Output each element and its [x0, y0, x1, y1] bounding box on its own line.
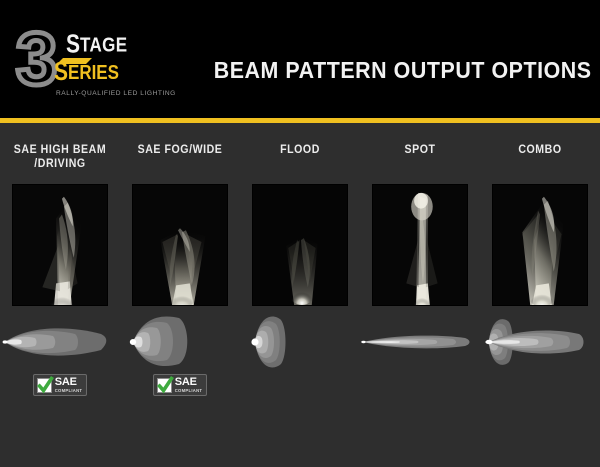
beam-photo-spot [372, 184, 468, 306]
beam-diagram-sae-fog-wide [121, 312, 239, 372]
beam-diagram-artwork [481, 312, 599, 372]
beam-diagram-artwork [121, 312, 239, 372]
green-checkmark-icon [157, 378, 172, 393]
beam-photo-sae-fog-wide [132, 184, 228, 306]
beam-diagram-artwork [241, 312, 359, 372]
beam-photo-combo [492, 184, 588, 306]
column-label: SAE FOG/WIDE [126, 129, 235, 177]
header-divider [0, 118, 600, 123]
status-badge-sae-compliant: SAE COMPLIANT [33, 374, 88, 396]
beam-photo-sae-high-beam-driving [12, 184, 108, 306]
logo-word-series-rest: ERIES [68, 61, 119, 84]
beam-diagram-artwork [361, 312, 479, 372]
logo-word-series: S [54, 57, 68, 85]
beam-diagram-spot [361, 312, 479, 372]
column-label: FLOOD [246, 129, 355, 177]
page-title: BEAM PATTERN OUTPUT OPTIONS [214, 57, 579, 84]
pattern-columns: SAE HIGH BEAM /DRIVING [0, 129, 600, 439]
beam-diagram-sae-high-beam-driving [1, 312, 119, 372]
logo-numeral-3: 3 [16, 17, 57, 100]
logo-artwork: 3 S TAGE S ERIES RALLY-QUALIFIED LED LIG… [14, 14, 194, 104]
badge-text: SAE COMPLIANT [175, 377, 203, 393]
badge-text: SAE COMPLIANT [55, 377, 83, 393]
beam-photo-flood [252, 184, 348, 306]
header-bar: 3 S TAGE S ERIES RALLY-QUALIFIED LED LIG… [0, 0, 600, 118]
green-checkmark-icon [37, 378, 52, 393]
badge-sub-label: COMPLIANT [175, 389, 203, 393]
badge-main-label: SAE [55, 377, 83, 388]
column-label: COMBO [486, 129, 595, 177]
logo-word-stage: S [66, 29, 80, 57]
beam-photo-artwork [253, 185, 347, 305]
logo-word-stage-rest: TAGE [80, 34, 128, 57]
beam-diagram-artwork [1, 312, 119, 372]
beam-photo-artwork [493, 185, 587, 305]
badge-slot: SAE COMPLIANT [1, 374, 119, 404]
column-label: SPOT [366, 129, 475, 177]
beam-photo-artwork [133, 185, 227, 305]
column-sae-fog-wide: SAE FOG/WIDE [120, 129, 240, 439]
beam-photo-artwork [373, 185, 467, 305]
status-badge-sae-compliant: SAE COMPLIANT [153, 374, 208, 396]
column-sae-high-beam-driving: SAE HIGH BEAM /DRIVING [0, 129, 120, 439]
badge-main-label: SAE [175, 377, 203, 388]
column-label: SAE HIGH BEAM /DRIVING [6, 129, 115, 177]
beam-diagram-flood [241, 312, 359, 372]
logo-tagline: RALLY-QUALIFIED LED LIGHTING [56, 90, 176, 97]
beam-pattern-infographic: 3 S TAGE S ERIES RALLY-QUALIFIED LED LIG… [0, 0, 600, 467]
stage-series-logo: 3 S TAGE S ERIES RALLY-QUALIFIED LED LIG… [14, 14, 194, 104]
badge-slot: SAE COMPLIANT [121, 374, 239, 404]
beam-photo-artwork [13, 185, 107, 305]
column-flood: FLOOD [240, 129, 360, 439]
beam-diagram-combo [481, 312, 599, 372]
badge-sub-label: COMPLIANT [55, 389, 83, 393]
column-combo: COMBO [480, 129, 600, 439]
column-spot: SPOT [360, 129, 480, 439]
